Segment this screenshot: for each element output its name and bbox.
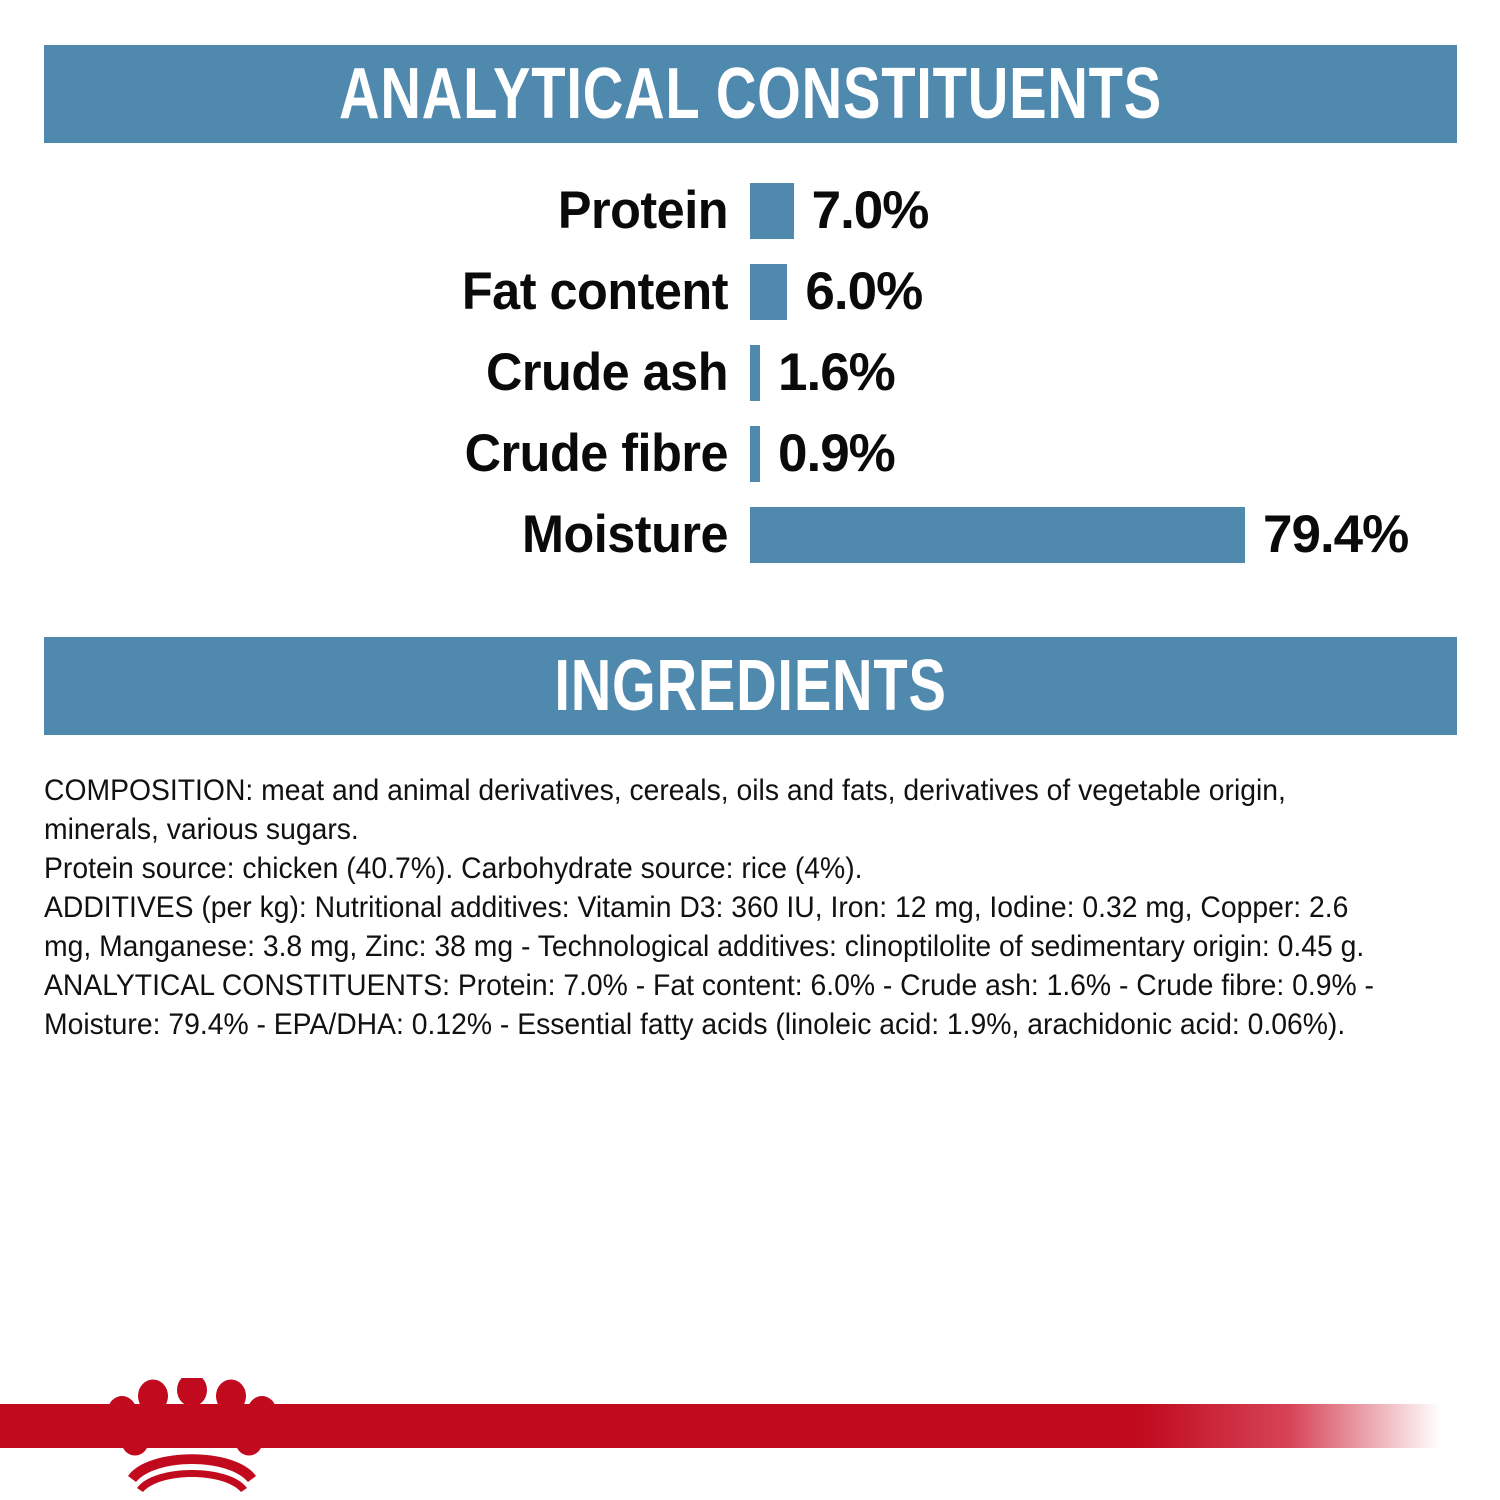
constituent-row-crude-fibre: Crude fibre 0.9% <box>0 413 1500 494</box>
constituent-bar-wrap-protein: 7.0% <box>750 170 928 251</box>
constituent-label-moisture: Moisture <box>36 508 728 561</box>
constituent-bar-wrap-crude-ash: 1.6% <box>750 332 895 413</box>
constituent-label-fat-content: Fat content <box>36 265 728 318</box>
constituent-bar-wrap-crude-fibre: 0.9% <box>750 413 895 494</box>
constituent-value-fat-content: 6.0% <box>805 265 922 318</box>
constituent-bar-crude-ash <box>750 345 760 401</box>
constituent-label-crude-ash: Crude ash <box>36 346 728 399</box>
constituent-row-protein: Protein 7.0% <box>0 170 1500 251</box>
ingredients-text-block: COMPOSITION: meat and animal derivatives… <box>44 772 1378 1045</box>
constituent-value-crude-ash: 1.6% <box>778 346 895 399</box>
constituent-bar-wrap-fat-content: 6.0% <box>750 251 922 332</box>
constituent-value-protein: 7.0% <box>812 184 929 237</box>
constituent-bar-protein <box>750 183 794 239</box>
constituents-bar-chart: Protein 7.0% Fat content 6.0% Crude ash … <box>0 170 1500 575</box>
constituent-row-moisture: Moisture 79.4% <box>0 494 1500 575</box>
constituent-row-fat-content: Fat content 6.0% <box>0 251 1500 332</box>
ingredients-paragraph-sources: Protein source: chicken (40.7%). Carbohy… <box>44 850 1378 889</box>
constituent-bar-moisture <box>750 507 1245 563</box>
section-title-analytical-constituents: ANALYTICAL CONSTITUENTS <box>339 58 1162 130</box>
constituent-bar-crude-fibre <box>750 426 760 482</box>
nutrition-panel: ANALYTICAL CONSTITUENTS Protein 7.0% Fat… <box>0 0 1500 1500</box>
constituent-value-moisture: 79.4% <box>1263 508 1408 561</box>
constituent-value-crude-fibre: 0.9% <box>778 427 895 480</box>
ingredients-paragraph-analytical-constituents: ANALYTICAL CONSTITUENTS: Protein: 7.0% -… <box>44 967 1378 1045</box>
constituent-row-crude-ash: Crude ash 1.6% <box>0 332 1500 413</box>
section-header-ingredients: INGREDIENTS <box>44 637 1457 735</box>
ingredients-paragraph-composition: COMPOSITION: meat and animal derivatives… <box>44 772 1378 850</box>
section-header-analytical-constituents: ANALYTICAL CONSTITUENTS <box>44 45 1457 143</box>
constituent-bar-fat-content <box>750 264 787 320</box>
constituent-bar-wrap-moisture: 79.4% <box>750 494 1408 575</box>
constituent-label-crude-fibre: Crude fibre <box>36 427 728 480</box>
constituent-label-protein: Protein <box>36 184 728 237</box>
ingredients-paragraph-additives: ADDITIVES (per kg): Nutritional additive… <box>44 889 1378 967</box>
royal-canin-crown-logo <box>108 1378 276 1498</box>
section-title-ingredients: INGREDIENTS <box>554 650 946 722</box>
